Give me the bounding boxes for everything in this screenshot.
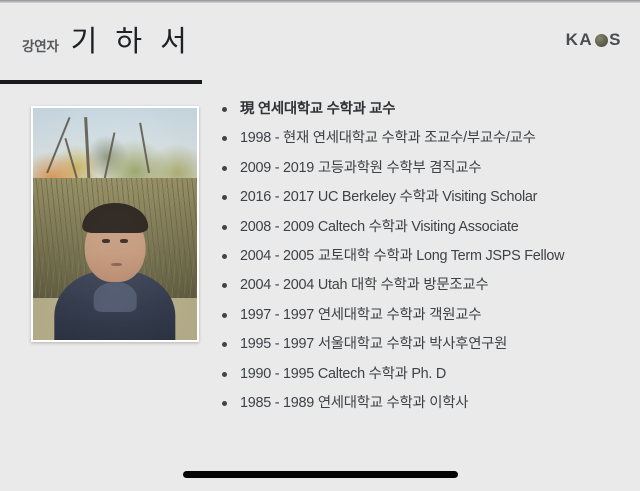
bullet-icon	[222, 166, 227, 171]
title-row: 강연자 기 하 서	[22, 28, 192, 57]
presentation-slide: 강연자 기 하 서 KA S	[0, 0, 640, 491]
list-item: 1998 - 현재 연세대학교 수학과 조교수/부교수/교수	[222, 128, 622, 157]
list-item-label: 1998 - 현재 연세대학교 수학과 조교수/부교수/교수	[240, 128, 536, 148]
list-item: 1995 - 1997 서울대학교 수학과 박사후연구원	[222, 334, 622, 363]
bullet-icon	[222, 254, 227, 259]
kaos-logo: KA S	[566, 31, 622, 48]
logo-globe-icon	[595, 34, 608, 47]
bullet-icon	[222, 136, 227, 141]
list-item: 1997 - 1997 연세대학교 수학과 객원교수	[222, 305, 622, 334]
list-item: 1985 - 1989 연세대학교 수학과 이학사	[222, 393, 622, 422]
title-underline-rule	[0, 80, 202, 84]
list-item: 2004 - 2004 Utah 대학 수학과 방문조교수	[222, 275, 622, 304]
logo-text-before: KA	[566, 31, 594, 48]
list-item: 2004 - 2005 교토대학 수학과 Long Term JSPS Fell…	[222, 246, 622, 275]
cv-list: 現 연세대학교 수학과 교수 1998 - 현재 연세대학교 수학과 조교수/부…	[222, 99, 622, 422]
list-item-label: 1990 - 1995 Caltech 수학과 Ph. D	[240, 364, 446, 384]
list-item: 現 연세대학교 수학과 교수	[222, 99, 622, 128]
bullet-icon	[222, 372, 227, 377]
list-item: 2008 - 2009 Caltech 수학과 Visiting Associa…	[222, 217, 622, 246]
list-item-label: 2004 - 2005 교토대학 수학과 Long Term JSPS Fell…	[240, 246, 564, 266]
logo-text-after: S	[609, 31, 622, 48]
player-top-edge	[0, 0, 640, 3]
list-item-label: 1995 - 1997 서울대학교 수학과 박사후연구원	[240, 334, 507, 354]
list-item-label: 2008 - 2009 Caltech 수학과 Visiting Associa…	[240, 217, 519, 237]
list-item: 2009 - 2019 고등과학원 수학부 겸직교수	[222, 158, 622, 187]
title-kicker: 강연자	[22, 40, 59, 54]
speaker-photo	[33, 108, 197, 340]
speaker-photo-frame	[31, 106, 199, 342]
list-item-label: 1985 - 1989 연세대학교 수학과 이학사	[240, 393, 468, 413]
bullet-icon	[222, 195, 227, 200]
bullet-icon	[222, 107, 227, 112]
home-indicator[interactable]	[183, 471, 458, 478]
list-item: 2016 - 2017 UC Berkeley 수학과 Visiting Sch…	[222, 187, 622, 216]
bullet-icon	[222, 401, 227, 406]
bullet-icon	[222, 342, 227, 347]
list-item-label: 2009 - 2019 고등과학원 수학부 겸직교수	[240, 158, 481, 178]
slide-header: 강연자 기 하 서	[0, 28, 640, 84]
bullet-icon	[222, 225, 227, 230]
list-item: 1990 - 1995 Caltech 수학과 Ph. D	[222, 364, 622, 393]
page-title: 기 하 서	[71, 28, 192, 57]
bullet-icon	[222, 313, 227, 318]
list-item-label: 2016 - 2017 UC Berkeley 수학과 Visiting Sch…	[240, 187, 537, 207]
photo-blur-overlay	[33, 108, 197, 340]
list-item-label: 現 연세대학교 수학과 교수	[240, 99, 395, 119]
list-item-label: 2004 - 2004 Utah 대학 수학과 방문조교수	[240, 275, 488, 295]
list-item-label: 1997 - 1997 연세대학교 수학과 객원교수	[240, 305, 481, 325]
bullet-icon	[222, 283, 227, 288]
